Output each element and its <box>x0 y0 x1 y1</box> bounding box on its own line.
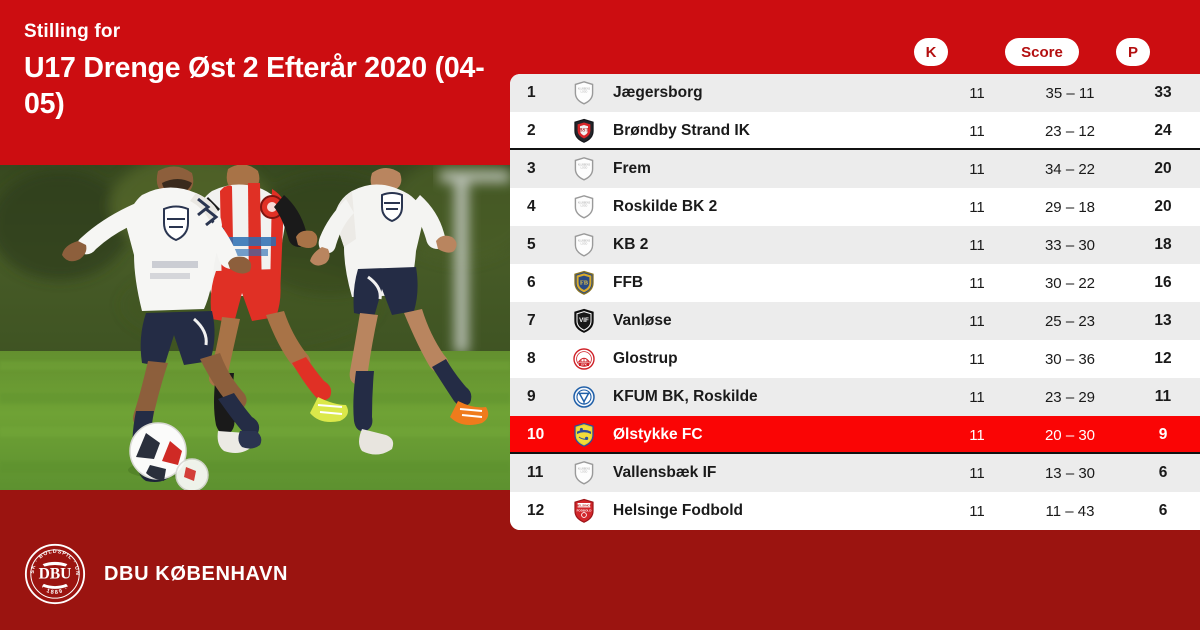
table-row[interactable]: 9KFUM BK, Roskilde1123 – 2911 <box>510 378 1200 416</box>
row-goal-score: 23 – 12 <box>1014 123 1126 140</box>
svg-text:GFK: GFK <box>581 363 587 367</box>
row-matches-played: 11 <box>940 237 1014 254</box>
row-team-name: Glostrup <box>606 350 940 368</box>
row-matches-played: 11 <box>940 85 1014 102</box>
svg-text:DBU: DBU <box>39 565 72 582</box>
row-points: 13 <box>1126 312 1200 330</box>
standings-rows: 1KLUBBENSLOGOJægersborg1135 – 11332BSTBr… <box>510 74 1200 530</box>
shield-placeholder-icon: KLUBBENSLOGO <box>562 194 606 220</box>
row-goal-score: 23 – 29 <box>1014 389 1126 406</box>
row-rank: 1 <box>510 84 562 102</box>
table-row[interactable]: 4KLUBBENSLOGORoskilde BK 21129 – 1820 <box>510 188 1200 226</box>
row-points: 11 <box>1126 388 1200 406</box>
helsinge-crest-icon: HELSINGEFODBOLD <box>562 498 606 524</box>
row-goal-score: 25 – 23 <box>1014 313 1126 330</box>
table-row[interactable]: 7VIFVanløse1125 – 2313 <box>510 302 1200 340</box>
row-rank: 11 <box>510 464 562 482</box>
row-goal-score: 33 – 30 <box>1014 237 1126 254</box>
svg-text:BST: BST <box>579 128 589 134</box>
olstykke-crest-icon <box>562 422 606 448</box>
row-matches-played: 11 <box>940 465 1014 482</box>
row-team-name: Jægersborg <box>606 84 940 102</box>
header-kicker: Stilling for <box>24 22 494 43</box>
column-header-points: P <box>1116 38 1150 66</box>
hero-photo <box>0 165 510 490</box>
shield-placeholder-icon: KLUBBENSLOGO <box>562 232 606 258</box>
row-goal-score: 11 – 43 <box>1014 503 1126 520</box>
row-rank: 5 <box>510 236 562 254</box>
row-goal-score: 30 – 36 <box>1014 351 1126 368</box>
brand-lockup: DANSK · BOLDSPIL · UNION · 1889 · DBU DB… <box>24 543 288 605</box>
table-row[interactable]: 5KLUBBENSLOGOKB 21133 – 3018 <box>510 226 1200 264</box>
row-points: 33 <box>1126 84 1200 102</box>
row-matches-played: 11 <box>940 351 1014 368</box>
svg-text:FB: FB <box>580 280 589 287</box>
brand-name: DBU KØBENHAVN <box>104 563 288 586</box>
svg-text:KLUBBENS: KLUBBENS <box>578 202 591 204</box>
row-team-name: Vanløse <box>606 312 940 330</box>
row-team-name: Frem <box>606 160 940 178</box>
shield-placeholder-icon: KLUBBENSLOGO <box>562 156 606 182</box>
brondby-strand-crest-icon: BST <box>562 118 606 144</box>
row-team-name: Roskilde BK 2 <box>606 198 940 216</box>
page-title: U17 Drenge Øst 2 Efterår 2020 (04-05) <box>24 50 494 123</box>
row-rank: 3 <box>510 160 562 178</box>
row-goal-score: 35 – 11 <box>1014 85 1126 102</box>
svg-text:LOGO: LOGO <box>581 205 588 207</box>
row-points: 16 <box>1126 274 1200 292</box>
row-goal-score: 34 – 22 <box>1014 161 1126 178</box>
table-row[interactable]: 3KLUBBENSLOGOFrem1134 – 2220 <box>510 150 1200 188</box>
shield-placeholder-icon: KLUBBENSLOGO <box>562 80 606 106</box>
row-rank: 9 <box>510 388 562 406</box>
row-points: 20 <box>1126 160 1200 178</box>
row-matches-played: 11 <box>940 427 1014 444</box>
svg-text:LOGO: LOGO <box>581 167 588 169</box>
column-header-matches: K <box>914 38 948 66</box>
table-row[interactable]: 12HELSINGEFODBOLDHelsinge Fodbold1111 – … <box>510 492 1200 530</box>
vanlose-crest-icon: VIF <box>562 308 606 334</box>
svg-text:KLUBBENS: KLUBBENS <box>578 468 591 470</box>
svg-text:FODBOLD: FODBOLD <box>577 508 593 512</box>
row-matches-played: 11 <box>940 199 1014 216</box>
svg-text:LOGO: LOGO <box>581 471 588 473</box>
svg-text:HELSINGE: HELSINGE <box>576 504 592 508</box>
row-points: 18 <box>1126 236 1200 254</box>
football-action-illustration <box>0 165 510 490</box>
table-row[interactable]: 11KLUBBENSLOGOVallensbæk IF1113 – 306 <box>510 454 1200 492</box>
svg-text:LOGO: LOGO <box>581 243 588 245</box>
row-points: 20 <box>1126 198 1200 216</box>
row-points: 9 <box>1126 426 1200 444</box>
row-matches-played: 11 <box>940 275 1014 292</box>
row-rank: 6 <box>510 274 562 292</box>
dbu-logo-icon: DANSK · BOLDSPIL · UNION · 1889 · DBU <box>24 543 86 605</box>
table-row[interactable]: 2BSTBrøndby Strand IK1123 – 1224 <box>510 112 1200 150</box>
row-rank: 2 <box>510 122 562 140</box>
kfum-crest-icon <box>562 384 606 410</box>
row-rank: 12 <box>510 502 562 520</box>
row-team-name: Vallensbæk IF <box>606 464 940 482</box>
row-matches-played: 11 <box>940 123 1014 140</box>
title-block: Stilling for U17 Drenge Øst 2 Efterår 20… <box>24 22 494 123</box>
row-team-name: KFUM BK, Roskilde <box>606 388 940 406</box>
glostrup-crest-icon: GFK <box>562 346 606 372</box>
shield-placeholder-icon: KLUBBENSLOGO <box>562 460 606 486</box>
row-rank: 8 <box>510 350 562 368</box>
row-rank: 7 <box>510 312 562 330</box>
row-rank: 4 <box>510 198 562 216</box>
row-goal-score: 30 – 22 <box>1014 275 1126 292</box>
ffb-crest-icon: FB <box>562 270 606 296</box>
table-column-headers: K Score P <box>510 0 1200 74</box>
column-header-score: Score <box>1005 38 1079 66</box>
svg-text:VIF: VIF <box>579 317 589 324</box>
svg-text:KLUBBENS: KLUBBENS <box>578 240 591 242</box>
row-team-name: Helsinge Fodbold <box>606 502 940 520</box>
svg-text:KLUBBENS: KLUBBENS <box>578 164 591 166</box>
row-points: 24 <box>1126 122 1200 140</box>
row-matches-played: 11 <box>940 389 1014 406</box>
row-team-name: Ølstykke FC <box>606 426 940 444</box>
row-matches-played: 11 <box>940 161 1014 178</box>
row-goal-score: 20 – 30 <box>1014 427 1126 444</box>
table-row[interactable]: 1KLUBBENSLOGOJægersborg1135 – 1133 <box>510 74 1200 112</box>
row-rank: 10 <box>510 426 562 444</box>
row-team-name: KB 2 <box>606 236 940 254</box>
svg-text:LOGO: LOGO <box>581 91 588 93</box>
row-team-name: FFB <box>606 274 940 292</box>
row-points: 12 <box>1126 350 1200 368</box>
svg-text:KLUBBENS: KLUBBENS <box>578 88 591 90</box>
table-row[interactable]: 8GFKGlostrup1130 – 3612 <box>510 340 1200 378</box>
table-row[interactable]: 10Ølstykke FC1120 – 309 <box>510 416 1200 454</box>
row-goal-score: 13 – 30 <box>1014 465 1126 482</box>
table-row[interactable]: 6FBFFB1130 – 2216 <box>510 264 1200 302</box>
row-matches-played: 11 <box>940 313 1014 330</box>
standings-table: 1KLUBBENSLOGOJægersborg1135 – 11332BSTBr… <box>510 74 1200 530</box>
row-goal-score: 29 – 18 <box>1014 199 1126 216</box>
row-points: 6 <box>1126 464 1200 482</box>
row-team-name: Brøndby Strand IK <box>606 122 940 140</box>
row-points: 6 <box>1126 502 1200 520</box>
row-matches-played: 11 <box>940 503 1014 520</box>
